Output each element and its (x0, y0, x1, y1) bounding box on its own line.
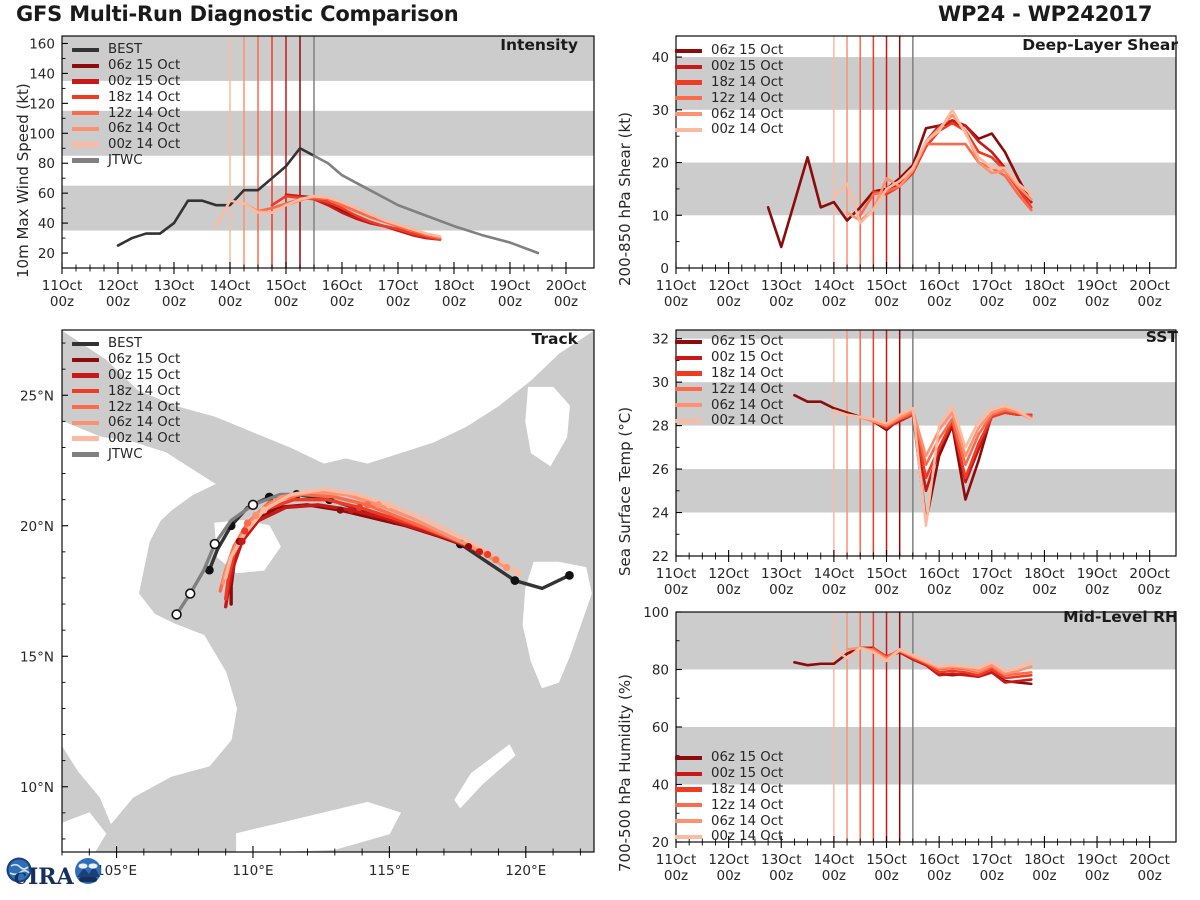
x-tick-label: 17Oct (378, 278, 419, 294)
x-tick-label: 19Oct (1077, 852, 1118, 868)
legend-swatch (675, 787, 702, 791)
track-run-marker (238, 538, 245, 545)
x-tick-label: 18Oct (434, 278, 475, 294)
legend-label: 18z 14 Oct (711, 366, 783, 381)
legend-item: JTWC (72, 447, 180, 463)
legend-label: 06z 15 Oct (711, 43, 783, 58)
legend-swatch (72, 405, 99, 409)
legend-item: 12z 14 Oct (675, 90, 783, 106)
x-tick-label: 18Oct (1024, 566, 1065, 582)
legend-label: 06z 14 Oct (108, 415, 180, 430)
legend-item: 06z 15 Oct (675, 750, 783, 766)
y-tick-label: 26 (652, 462, 669, 478)
x-tick-label: 13Oct (761, 278, 802, 294)
y-tick-label: 60 (38, 186, 55, 202)
x-tick-hour: 00z (1138, 868, 1162, 884)
legend-label: 06z 15 Oct (108, 58, 180, 73)
legend-label: 00z 15 Oct (108, 368, 180, 383)
x-tick-label: 14Oct (814, 278, 855, 294)
legend-item: 00z 15 Oct (72, 368, 180, 384)
track-run-marker (241, 527, 248, 534)
x-tick-label: 18Oct (1024, 852, 1065, 868)
shaded-band (676, 163, 1176, 216)
shear-panel-label: Deep-Layer Shear (1022, 36, 1178, 54)
x-tick-hour: 00z (386, 294, 410, 310)
legend-item: 18z 14 Oct (675, 366, 783, 382)
legend-swatch (675, 371, 702, 375)
track-run-marker (348, 506, 355, 513)
y-tick-label: 0 (660, 261, 669, 277)
legend-label: 06z 14 Oct (711, 814, 783, 829)
legend-item: 06z 15 Oct (675, 43, 783, 59)
page-title: GFS Multi-Run Diagnostic Comparison (16, 2, 458, 26)
legend-label: 06z 15 Oct (108, 352, 180, 367)
y-tick-label: 30 (652, 375, 669, 391)
x-tick-hour: 00z (498, 294, 522, 310)
lon-tick-label: 110°E (232, 863, 273, 879)
sst-panel: Sea Surface Temp (°C) 22242628303211Oct0… (600, 320, 1200, 608)
legend-label: 00z 15 Oct (711, 59, 783, 74)
legend-swatch (675, 49, 702, 53)
x-tick-hour: 00z (716, 294, 740, 310)
lat-tick-label: 15°N (20, 649, 54, 665)
legend-label: 18z 14 Oct (711, 75, 783, 90)
x-tick-label: 12Oct (708, 566, 749, 582)
x-tick-hour: 00z (980, 868, 1004, 884)
x-tick-label: 19Oct (1077, 566, 1118, 582)
x-tick-label: 20Oct (1129, 566, 1170, 582)
legend-swatch (675, 403, 702, 407)
y-tick-label: 10 (652, 208, 669, 224)
lon-tick-label: 120°E (505, 863, 546, 879)
x-tick-hour: 00z (664, 868, 688, 884)
x-tick-label: 12Oct (98, 278, 139, 294)
legend-label: 00z 14 Oct (108, 137, 180, 152)
y-tick-label: 80 (652, 663, 669, 679)
legend-item: 00z 14 Oct (72, 431, 180, 447)
x-tick-label: 15Oct (866, 278, 907, 294)
legend-item: 18z 14 Oct (72, 383, 180, 399)
legend-item: 12z 14 Oct (675, 797, 783, 813)
legend-label: 12z 14 Oct (108, 106, 180, 121)
x-tick-hour: 00z (162, 294, 186, 310)
shear-panel: 200-850 hPa Shear (kt) 01020304011Oct00z… (600, 28, 1200, 320)
cira-logo: C IRA (4, 846, 108, 892)
track-marker-open (186, 589, 195, 598)
legend-swatch (72, 158, 99, 162)
legend-swatch (72, 111, 99, 115)
legend-label: 06z 14 Oct (711, 107, 783, 122)
x-tick-label: 13Oct (154, 278, 195, 294)
track-run-marker (476, 548, 483, 555)
shear-y-axis-label: 200-850 hPa Shear (kt) (616, 112, 634, 286)
legend-item: 12z 14 Oct (72, 399, 180, 415)
x-tick-hour: 00z (980, 582, 1004, 598)
legend-label: 12z 14 Oct (108, 400, 180, 415)
x-tick-hour: 00z (874, 582, 898, 598)
x-tick-hour: 00z (769, 868, 793, 884)
legend-swatch (675, 65, 702, 69)
legend-item: 00z 15 Oct (675, 59, 783, 75)
legend-item: 06z 15 Oct (72, 58, 180, 74)
x-tick-hour: 00z (1085, 582, 1109, 598)
y-tick-label: 120 (29, 96, 55, 112)
x-tick-label: 16Oct (919, 852, 960, 868)
x-tick-hour: 00z (822, 294, 846, 310)
x-tick-hour: 00z (1138, 582, 1162, 598)
x-tick-hour: 00z (218, 294, 242, 310)
intensity-panel: 10m Max Wind Speed (kt) 2040608010012014… (0, 28, 600, 320)
x-tick-hour: 00z (1085, 868, 1109, 884)
storm-id-title: WP24 - WP242017 (938, 2, 1152, 26)
y-tick-label: 100 (643, 605, 669, 621)
x-tick-label: 20Oct (1129, 852, 1170, 868)
x-tick-label: 13Oct (761, 852, 802, 868)
y-tick-label: 160 (29, 36, 55, 52)
x-tick-label: 15Oct (266, 278, 307, 294)
track-run-marker (503, 564, 510, 571)
legend-label: 18z 14 Oct (108, 384, 180, 399)
y-tick-label: 140 (29, 66, 55, 82)
legend-label: 00z 14 Oct (711, 829, 783, 844)
rh-legend: 06z 15 Oct00z 15 Oct18z 14 Oct12z 14 Oct… (675, 750, 783, 845)
legend-swatch (72, 436, 99, 440)
sst-panel-label: SST (1146, 328, 1178, 346)
legend-item: 06z 14 Oct (72, 121, 180, 137)
rh-panel: 700-500 hPa Humidity (%) 2040608010011Oc… (600, 600, 1200, 900)
x-tick-hour: 00z (822, 868, 846, 884)
lat-tick-label: 20°N (20, 519, 54, 535)
x-tick-label: 16Oct (322, 278, 363, 294)
legend-swatch (675, 772, 702, 776)
y-tick-label: 28 (652, 419, 669, 435)
x-tick-hour: 00z (274, 294, 298, 310)
x-tick-label: 16Oct (919, 278, 960, 294)
track-run-marker (484, 551, 491, 558)
legend-label: 12z 14 Oct (711, 798, 783, 813)
x-tick-hour: 00z (1032, 582, 1056, 598)
legend-item: 18z 14 Oct (72, 89, 180, 105)
legend-label: 06z 14 Oct (108, 121, 180, 136)
x-tick-label: 15Oct (866, 566, 907, 582)
legend-swatch (675, 340, 702, 344)
x-tick-hour: 00z (716, 582, 740, 598)
x-tick-label: 13Oct (761, 566, 802, 582)
legend-item: 00z 14 Oct (675, 413, 783, 429)
y-tick-label: 60 (652, 720, 669, 736)
x-tick-hour: 00z (927, 582, 951, 598)
legend-label: BEST (108, 42, 142, 57)
legend-label: 06z 14 Oct (711, 398, 783, 413)
legend-label: 00z 15 Oct (711, 350, 783, 365)
track-run-marker (386, 501, 393, 508)
legend-item: 00z 14 Oct (675, 122, 783, 138)
y-tick-label: 20 (38, 246, 55, 262)
intensity-legend: BEST06z 15 Oct00z 15 Oct18z 14 Oct12z 14… (72, 42, 180, 168)
shear-legend: 06z 15 Oct00z 15 Oct18z 14 Oct12z 14 Oct… (675, 43, 783, 138)
lat-tick-label: 10°N (20, 780, 54, 796)
legend-swatch (675, 803, 702, 807)
track-run-marker (465, 543, 472, 550)
track-run-marker (364, 501, 371, 508)
legend-item: 12z 14 Oct (72, 105, 180, 121)
intensity-y-axis-label: 10m Max Wind Speed (kt) (14, 83, 32, 278)
legend-swatch (675, 96, 702, 100)
legend-item: 00z 15 Oct (675, 766, 783, 782)
legend-swatch (675, 356, 702, 360)
x-tick-hour: 00z (664, 582, 688, 598)
x-tick-label: 11Oct (656, 852, 697, 868)
x-tick-hour: 00z (716, 868, 740, 884)
legend-swatch (675, 387, 702, 391)
track-panel: 105°E110°E115°E120°E10°N15°N20°N25°N Tra… (0, 322, 600, 900)
legend-swatch (675, 112, 702, 116)
legend-item: 06z 14 Oct (675, 813, 783, 829)
x-tick-hour: 00z (442, 294, 466, 310)
x-tick-label: 17Oct (972, 852, 1013, 868)
legend-item: BEST (72, 42, 180, 58)
x-tick-hour: 00z (874, 294, 898, 310)
svg-text:C: C (14, 869, 27, 888)
legend-item: 06z 14 Oct (675, 397, 783, 413)
track-marker-open (249, 500, 258, 509)
x-tick-hour: 00z (50, 294, 74, 310)
x-tick-label: 14Oct (210, 278, 251, 294)
y-tick-label: 40 (652, 778, 669, 794)
x-tick-hour: 00z (1138, 294, 1162, 310)
legend-swatch (675, 419, 702, 423)
legend-item: 06z 15 Oct (72, 352, 180, 368)
track-panel-label: Track (532, 330, 578, 348)
x-tick-hour: 00z (927, 868, 951, 884)
svg-text:IRA: IRA (28, 864, 75, 890)
legend-swatch (72, 48, 99, 52)
y-tick-label: 20 (652, 835, 669, 851)
x-tick-label: 17Oct (972, 566, 1013, 582)
y-tick-label: 22 (652, 549, 669, 565)
legend-label: 00z 14 Oct (711, 122, 783, 137)
legend-item: 12z 14 Oct (675, 381, 783, 397)
track-run-marker (244, 520, 251, 527)
legend-item: 00z 14 Oct (675, 829, 783, 845)
x-tick-label: 16Oct (919, 566, 960, 582)
x-tick-hour: 00z (1032, 294, 1056, 310)
legend-swatch (72, 358, 99, 362)
rh-panel-label: Mid-Level RH (1063, 608, 1178, 626)
track-run-marker (260, 506, 267, 513)
x-tick-label: 20Oct (1129, 278, 1170, 294)
track-marker-open (210, 540, 219, 549)
y-tick-label: 100 (29, 126, 55, 142)
track-run-marker (514, 569, 521, 576)
legend-swatch (72, 95, 99, 99)
shaded-band (62, 186, 594, 231)
legend-item: BEST (72, 336, 180, 352)
sst-legend: 06z 15 Oct00z 15 Oct18z 14 Oct12z 14 Oct… (675, 334, 783, 429)
y-tick-label: 40 (38, 216, 55, 232)
legend-label: 00z 15 Oct (711, 766, 783, 781)
x-tick-label: 12Oct (708, 852, 749, 868)
track-run-marker (337, 506, 344, 513)
x-tick-hour: 00z (1032, 868, 1056, 884)
track-run-marker (356, 504, 363, 511)
legend-label: BEST (108, 336, 142, 351)
x-tick-label: 14Oct (814, 852, 855, 868)
x-tick-label: 18Oct (1024, 278, 1065, 294)
legend-swatch (72, 142, 99, 146)
x-tick-hour: 00z (330, 294, 354, 310)
legend-label: 12z 14 Oct (711, 382, 783, 397)
x-tick-label: 19Oct (1077, 278, 1118, 294)
track-marker-filled (510, 576, 519, 585)
x-tick-hour: 00z (1085, 294, 1109, 310)
x-tick-hour: 00z (769, 294, 793, 310)
sst-y-axis-label: Sea Surface Temp (°C) (616, 407, 634, 576)
legend-swatch (675, 835, 702, 839)
legend-item: 18z 14 Oct (675, 782, 783, 798)
legend-swatch (72, 373, 99, 377)
x-tick-hour: 00z (980, 294, 1004, 310)
legend-swatch (72, 127, 99, 131)
y-tick-label: 24 (652, 506, 669, 522)
legend-label: 00z 14 Oct (711, 413, 783, 428)
track-run-marker (375, 501, 382, 508)
legend-item: 00z 15 Oct (675, 350, 783, 366)
intensity-panel-label: Intensity (500, 36, 578, 54)
x-tick-label: 11Oct (656, 566, 697, 582)
lon-tick-label: 115°E (369, 863, 410, 879)
x-tick-hour: 00z (927, 294, 951, 310)
y-tick-label: 20 (652, 156, 669, 172)
y-tick-label: 30 (652, 103, 669, 119)
legend-item: 00z 14 Oct (72, 137, 180, 153)
track-run-marker (492, 556, 499, 563)
x-tick-hour: 00z (822, 582, 846, 598)
y-tick-label: 80 (38, 156, 55, 172)
legend-item: 00z 15 Oct (72, 74, 180, 90)
legend-swatch (72, 79, 99, 83)
x-tick-hour: 00z (554, 294, 578, 310)
legend-swatch (675, 819, 702, 823)
rh-y-axis-label: 700-500 hPa Humidity (%) (616, 674, 634, 872)
x-tick-label: 15Oct (866, 852, 907, 868)
legend-label: 18z 14 Oct (108, 90, 180, 105)
x-tick-hour: 00z (106, 294, 130, 310)
track-run-marker (252, 512, 259, 519)
legend-item: JTWC (72, 153, 180, 169)
x-tick-hour: 00z (874, 868, 898, 884)
legend-label: 06z 15 Oct (711, 750, 783, 765)
track-marker-open (172, 610, 181, 619)
legend-label: JTWC (108, 153, 142, 168)
legend-swatch (675, 128, 702, 132)
x-tick-label: 11Oct (656, 278, 697, 294)
legend-label: 06z 15 Oct (711, 334, 783, 349)
x-tick-label: 14Oct (814, 566, 855, 582)
legend-label: 00z 14 Oct (108, 431, 180, 446)
legend-swatch (675, 756, 702, 760)
x-tick-label: 17Oct (972, 278, 1013, 294)
x-tick-label: 11Oct (42, 278, 83, 294)
legend-swatch (72, 452, 99, 456)
track-marker-filled (565, 571, 574, 580)
legend-swatch (72, 389, 99, 393)
legend-label: 00z 15 Oct (108, 74, 180, 89)
legend-item: 06z 14 Oct (675, 106, 783, 122)
x-tick-hour: 00z (664, 294, 688, 310)
legend-swatch (72, 64, 99, 68)
legend-swatch (72, 342, 99, 346)
x-tick-hour: 00z (769, 582, 793, 598)
legend-swatch (675, 80, 702, 84)
x-tick-label: 12Oct (708, 278, 749, 294)
x-tick-label: 19Oct (490, 278, 531, 294)
legend-label: JTWC (108, 447, 142, 462)
legend-item: 06z 15 Oct (675, 334, 783, 350)
legend-label: 12z 14 Oct (711, 91, 783, 106)
legend-swatch (72, 421, 99, 425)
x-tick-label: 20Oct (546, 278, 587, 294)
y-tick-label: 32 (652, 332, 669, 348)
lat-tick-label: 25°N (20, 388, 54, 404)
legend-item: 18z 14 Oct (675, 75, 783, 91)
track-legend: BEST06z 15 Oct00z 15 Oct18z 14 Oct12z 14… (72, 336, 180, 462)
legend-item: 06z 14 Oct (72, 415, 180, 431)
legend-label: 18z 14 Oct (711, 782, 783, 797)
y-tick-label: 40 (652, 50, 669, 66)
